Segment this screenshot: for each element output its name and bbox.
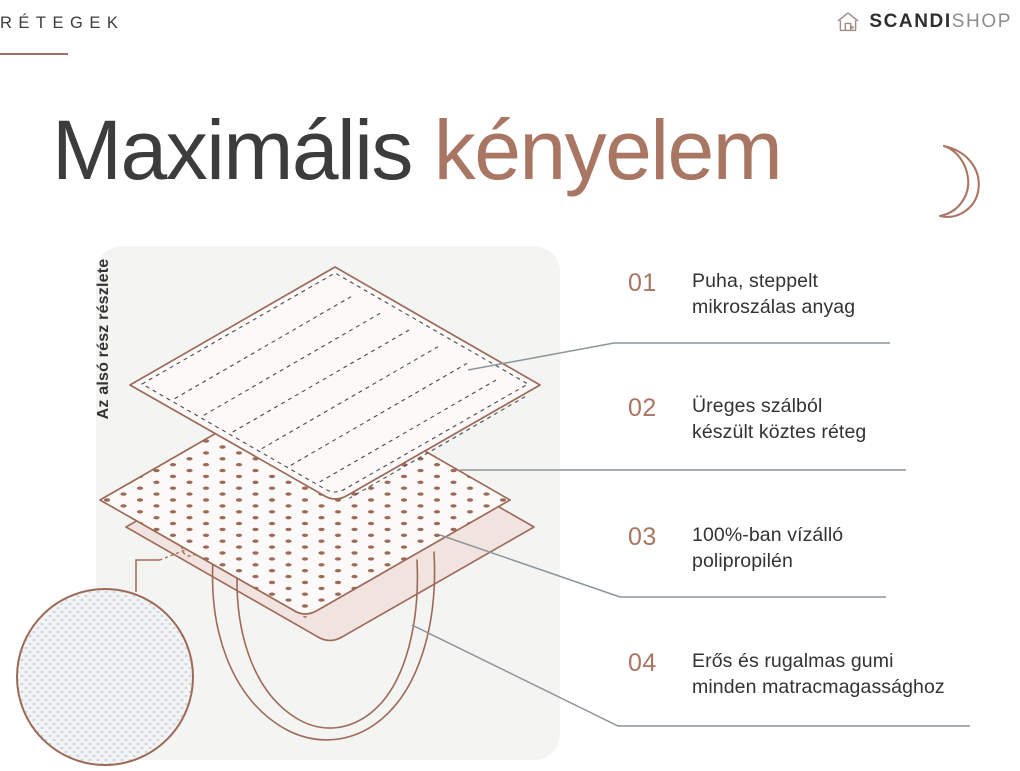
page-header: RÉTEGEK SCANDISHOP [0,0,1020,60]
callout-text: Puha, steppelt mikroszálas anyag [692,268,855,321]
exploded-layer-illustration [0,230,600,771]
callout-text: Erős és rugalmas gumi minden matracmagas… [692,648,945,701]
title-dark-part: Maximális [52,103,412,197]
callout-number: 04 [628,648,672,679]
brand-name-light: SHOP [952,11,1012,32]
house-icon [836,10,860,34]
fabric-detail-magnifier [17,560,193,765]
eyebrow-label: RÉTEGEK [0,14,124,33]
callout-item-04: 04 Erős és rugalmas gumi minden matracma… [628,648,945,701]
callout-list: 01 Puha, steppelt mikroszálas anyag 02 Ü… [600,250,1020,750]
callout-item-01: 01 Puha, steppelt mikroszálas anyag [628,268,855,321]
callout-number: 03 [628,522,672,553]
callout-item-02: 02 Üreges szálból készült köztes réteg [628,393,866,446]
brand-name-bold: SCANDI [869,11,951,32]
eyebrow-divider [0,53,68,55]
callout-text: 100%-ban vízálló polipropilén [692,522,843,575]
title-accent-part: kényelem [434,103,782,197]
crescent-moon-icon [920,142,990,222]
page-title: Maximális kényelem [52,108,781,194]
brand-logo[interactable]: SCANDISHOP [836,10,1012,34]
brand-wordmark: SCANDISHOP [869,11,1012,33]
callout-number: 02 [628,393,672,424]
callout-text: Üreges szálból készült köztes réteg [692,393,866,446]
callout-item-03: 03 100%-ban vízálló polipropilén [628,522,843,575]
callout-number: 01 [628,268,672,299]
